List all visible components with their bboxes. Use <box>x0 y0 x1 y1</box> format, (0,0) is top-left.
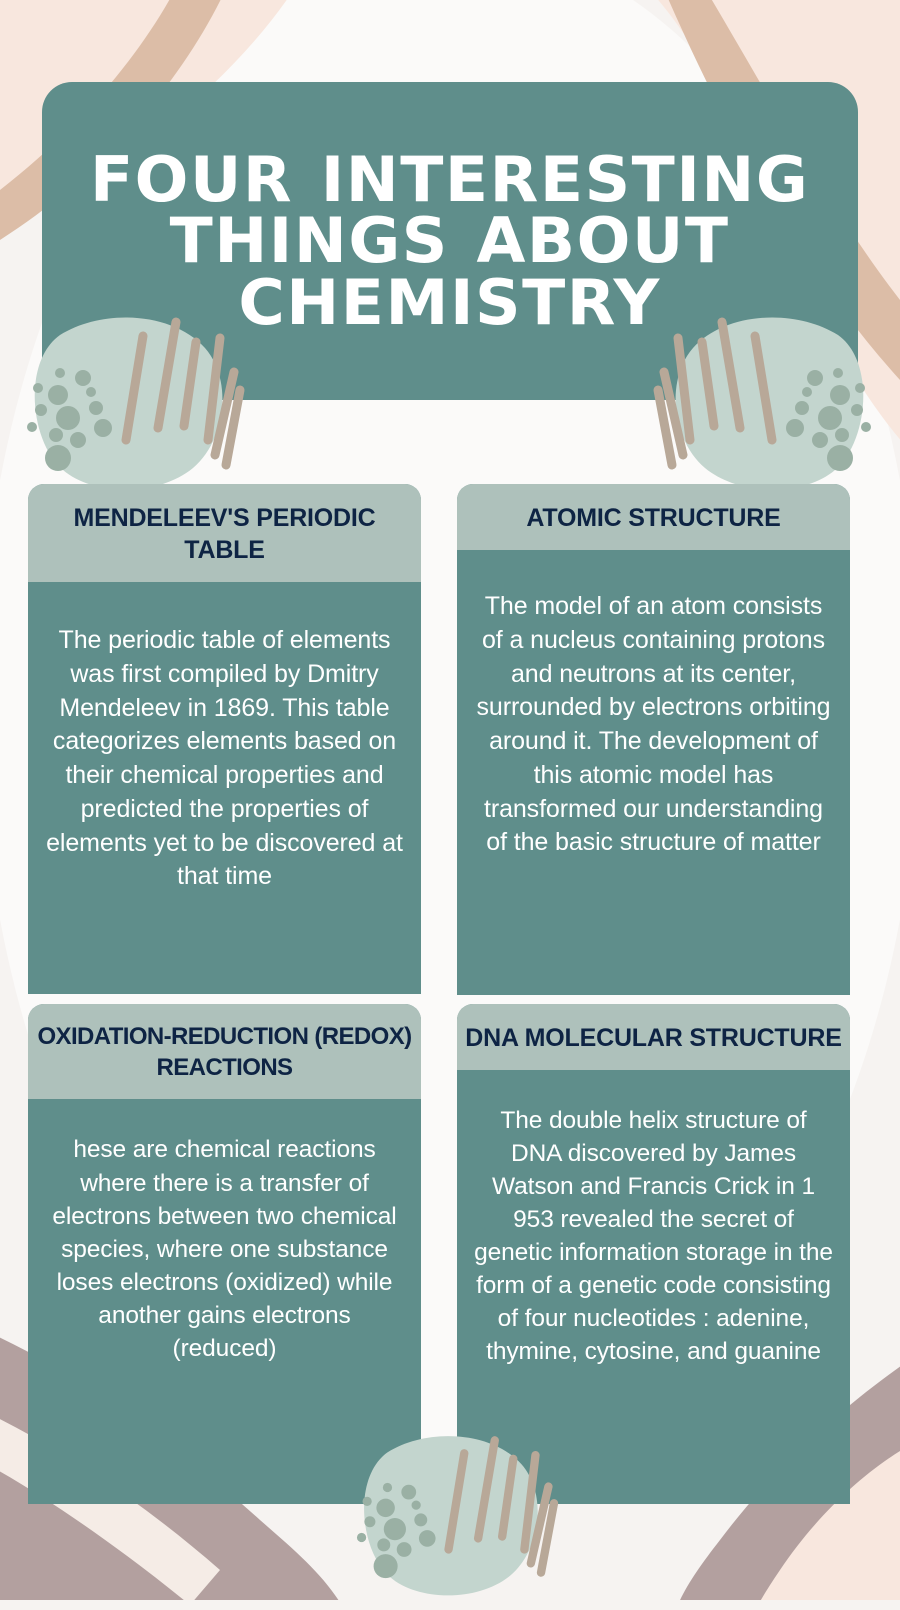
card-body-text: The double helix structure of DNA discov… <box>457 1070 850 1389</box>
card-body-text: The periodic table of elements was first… <box>28 582 421 914</box>
card-grid: MENDELEEV'S PERIODIC TABLE The periodic … <box>0 0 900 1600</box>
card-header-title: ATOMIC STRUCTURE <box>457 484 850 550</box>
card-header-title: OXIDATION-REDUCTION (REDOX) REACTIONS <box>28 1004 421 1099</box>
card-body-text: The model of an atom consists of a nucle… <box>457 550 850 880</box>
card-header-title: MENDELEEV'S PERIODIC TABLE <box>28 484 421 582</box>
card-header-title: DNA MOLECULAR STRUCTURE <box>457 1004 850 1070</box>
fact-card-mendeleevs-periodic-table: MENDELEEV'S PERIODIC TABLE The periodic … <box>28 484 421 994</box>
fact-card-oxidation-reduction-redox-reactions: OXIDATION-REDUCTION (REDOX) REACTIONS he… <box>28 1004 421 1504</box>
fact-card-dna-molecular-structure: DNA MOLECULAR STRUCTURE The double helix… <box>457 1004 850 1504</box>
card-body-text: hese are chemical reactions where there … <box>28 1099 421 1384</box>
fact-card-atomic-structure: ATOMIC STRUCTURE The model of an atom co… <box>457 484 850 995</box>
